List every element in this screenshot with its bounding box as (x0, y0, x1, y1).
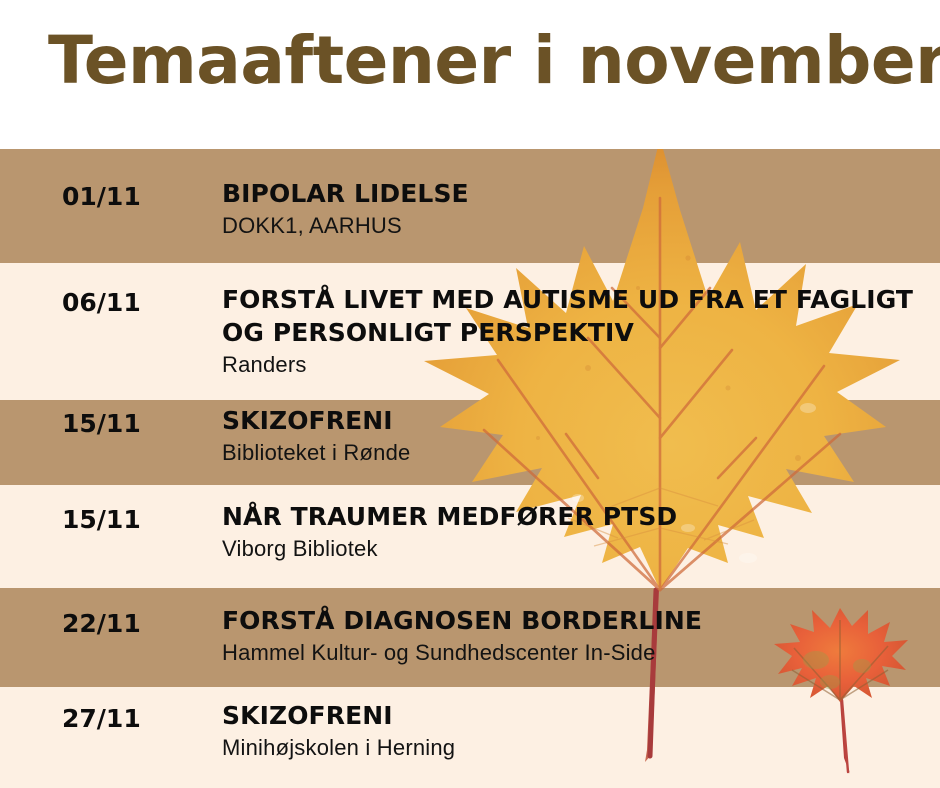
event-venue: Biblioteket i Rønde (222, 439, 930, 468)
schedule-row[interactable]: 15/11SKIZOFRENIBiblioteket i Rønde (0, 400, 940, 485)
schedule-row[interactable]: 15/11NÅR TRAUMER MEDFØRER PTSDViborg Bib… (0, 485, 940, 588)
poster: 01/11BIPOLAR LIDELSEDOKK1, AARHUS06/11FO… (0, 0, 940, 788)
event-venue: Hammel Kultur- og Sundhedscenter In-Side (222, 639, 930, 668)
event-date: 06/11 (62, 288, 141, 317)
event-date: 27/11 (62, 704, 141, 733)
event-venue: DOKK1, AARHUS (222, 212, 930, 241)
page-title: Temaaftener i november (48, 28, 940, 94)
title-band: Temaaftener i november (0, 0, 940, 149)
event-title: FORSTÅ DIAGNOSEN BORDERLINE (222, 604, 930, 637)
event-details: BIPOLAR LIDELSEDOKK1, AARHUS (222, 177, 930, 241)
event-title: BIPOLAR LIDELSE (222, 177, 930, 210)
event-venue: Minihøjskolen i Herning (222, 734, 930, 763)
event-date: 22/11 (62, 609, 141, 638)
event-details: FORSTÅ DIAGNOSEN BORDERLINEHammel Kultur… (222, 604, 930, 668)
schedule-row[interactable]: 01/11BIPOLAR LIDELSEDOKK1, AARHUS (0, 149, 940, 263)
event-venue: Viborg Bibliotek (222, 535, 930, 564)
event-title: SKIZOFRENI (222, 699, 930, 732)
event-date: 01/11 (62, 182, 141, 211)
event-date: 15/11 (62, 409, 141, 438)
event-details: FORSTÅ LIVET MED AUTISME UD FRA ET FAGLI… (222, 283, 930, 380)
event-details: NÅR TRAUMER MEDFØRER PTSDViborg Bibliote… (222, 500, 930, 564)
schedule-row[interactable]: 27/11SKIZOFRENIMinihøjskolen i Herning (0, 687, 940, 788)
event-title: FORSTÅ LIVET MED AUTISME UD FRA ET FAGLI… (222, 283, 930, 349)
event-title: NÅR TRAUMER MEDFØRER PTSD (222, 500, 930, 533)
schedule-row[interactable]: 06/11FORSTÅ LIVET MED AUTISME UD FRA ET … (0, 263, 940, 400)
event-venue: Randers (222, 351, 930, 380)
event-details: SKIZOFRENIMinihøjskolen i Herning (222, 699, 930, 763)
event-title: SKIZOFRENI (222, 404, 930, 437)
event-date: 15/11 (62, 505, 141, 534)
event-details: SKIZOFRENIBiblioteket i Rønde (222, 404, 930, 468)
schedule-row[interactable]: 22/11FORSTÅ DIAGNOSEN BORDERLINEHammel K… (0, 588, 940, 687)
